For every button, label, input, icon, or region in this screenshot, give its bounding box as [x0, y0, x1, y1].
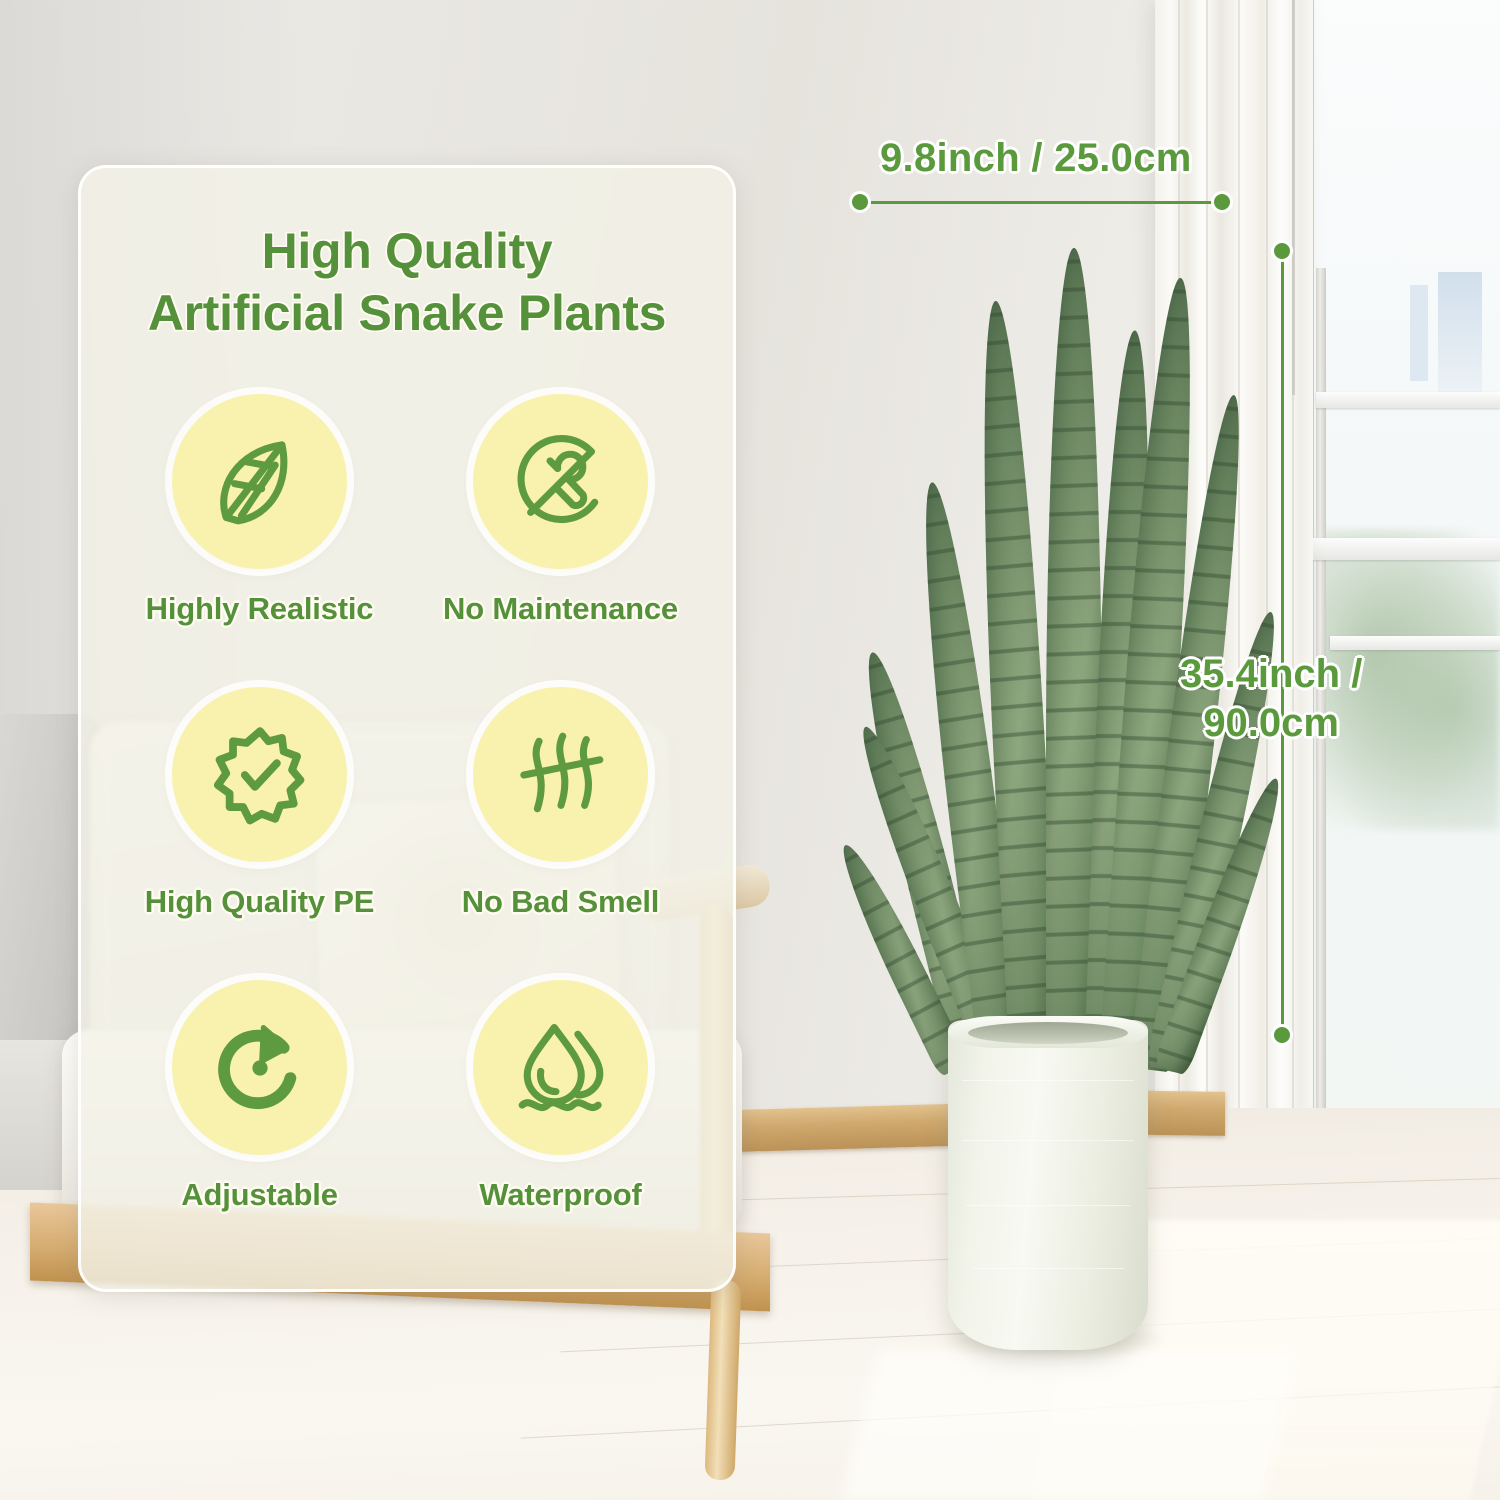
window-mullion-mid — [1300, 538, 1500, 560]
feature-no-bad-smell: No Bad Smell — [410, 687, 711, 920]
window-mullion-top — [1316, 392, 1500, 408]
window-mullion-low — [1330, 636, 1500, 650]
height-dimension-label: 35.4inch / 90.0cm — [1180, 650, 1362, 748]
feature-high-quality-pe: High Quality PE — [109, 687, 410, 920]
building-outside — [1438, 272, 1482, 392]
pot-texture — [972, 1268, 1124, 1269]
feature-no-maintenance: No Maintenance — [410, 394, 711, 627]
pot-texture — [966, 1205, 1130, 1206]
plant-pot — [948, 1020, 1148, 1350]
feature-label: No Bad Smell — [462, 884, 659, 920]
width-dimension-label: 9.8inch / 25.0cm — [880, 136, 1192, 181]
sunlight-patch-2 — [841, 1350, 1298, 1500]
building-outside-2 — [1410, 285, 1428, 381]
no-smell-icon — [473, 687, 648, 862]
feature-grid: Highly Realistic No Maintenance — [109, 394, 711, 1213]
pot-opening — [968, 1022, 1128, 1044]
feature-label: Highly Realistic — [146, 591, 374, 627]
waterdrop-icon — [473, 980, 648, 1155]
product-scene: 9.8inch / 25.0cm 35.4inch / 90.0cm High … — [0, 0, 1500, 1500]
pot-texture — [962, 1080, 1134, 1081]
feature-adjustable: Adjustable — [109, 980, 410, 1213]
feature-panel: High Quality Artificial Snake Plants Hig… — [78, 165, 736, 1292]
no-wrench-icon — [473, 394, 648, 569]
height-dimension-endpoint-bottom — [1274, 1027, 1290, 1043]
width-dimension-endpoint-left — [852, 194, 868, 210]
height-dimension-endpoint-top — [1274, 243, 1290, 259]
feature-label: No Maintenance — [443, 591, 678, 627]
quality-badge-icon — [172, 687, 347, 862]
rotate-icon — [172, 980, 347, 1155]
width-dimension-line — [860, 201, 1222, 204]
feature-label: Adjustable — [181, 1177, 337, 1213]
page-title: High Quality Artificial Snake Plants — [81, 220, 733, 344]
width-dimension-endpoint-right — [1214, 194, 1230, 210]
pot-texture — [962, 1140, 1134, 1141]
feature-label: Waterproof — [479, 1177, 641, 1213]
leaf-icon — [172, 394, 347, 569]
height-dimension-line — [1281, 251, 1284, 1035]
feature-highly-realistic: Highly Realistic — [109, 394, 410, 627]
feature-waterproof: Waterproof — [410, 980, 711, 1213]
curtain-rod-line — [1292, 0, 1295, 395]
feature-label: High Quality PE — [145, 884, 375, 920]
